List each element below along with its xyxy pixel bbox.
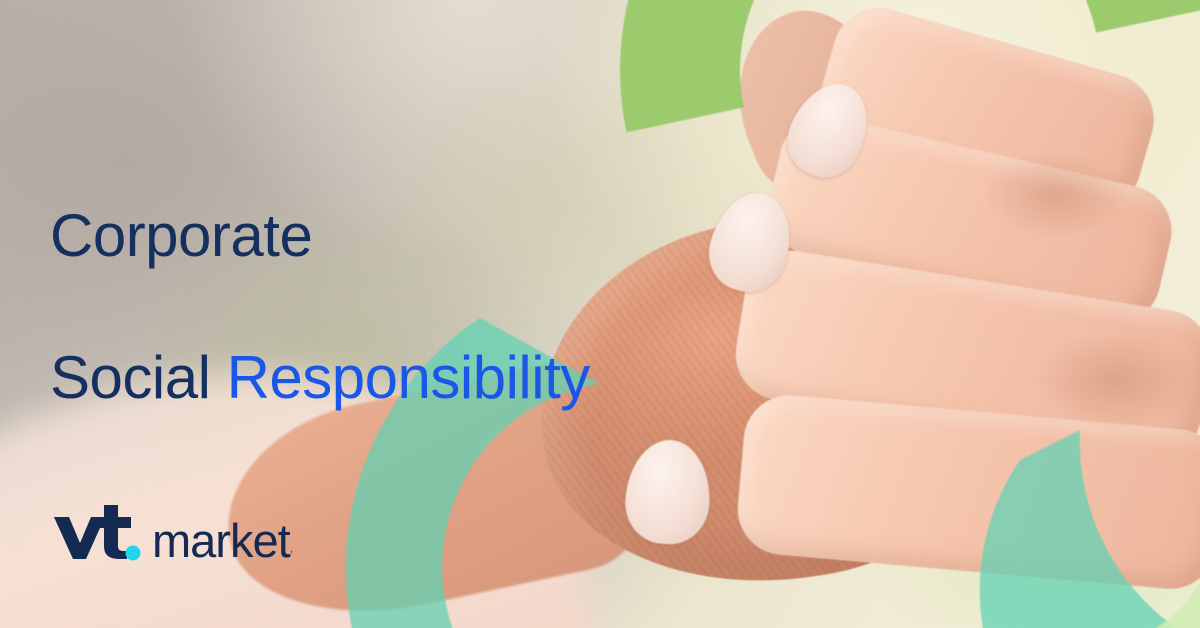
headline-line-1-text: Corporate xyxy=(50,202,312,269)
headline-line-2: Social Responsibility xyxy=(50,342,590,413)
headline-line-1: Corporate xyxy=(50,200,590,271)
logo-wordmark: markets xyxy=(152,514,292,563)
headline-line-2-plain: Social xyxy=(50,344,227,411)
green-corner-shape xyxy=(1090,520,1200,628)
green-arc-shape xyxy=(560,0,1200,330)
page-title: Corporate Social Responsibility xyxy=(50,129,590,484)
logo-svg: markets xyxy=(52,505,292,563)
csr-banner: Corporate Social Responsibility markets xyxy=(0,0,1200,628)
green-arc-path xyxy=(564,0,1200,132)
headline-line-2-accent: Responsibility xyxy=(227,344,590,411)
logo-accent-dot xyxy=(126,546,141,561)
green-corner-path xyxy=(1090,520,1200,628)
knuckle-shadow xyxy=(1030,330,1200,430)
vt-markets-logo[interactable]: markets xyxy=(52,505,292,563)
